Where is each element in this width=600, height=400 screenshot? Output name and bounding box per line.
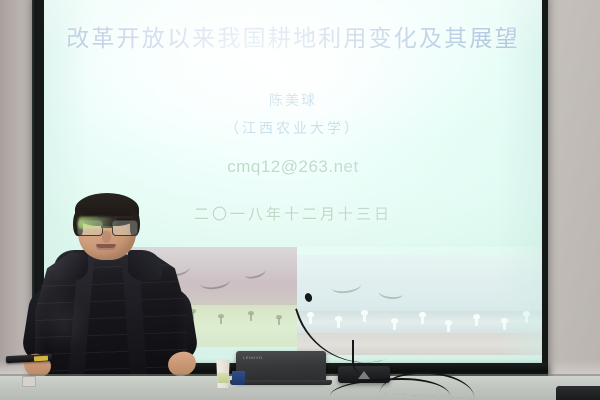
chair-back-right [556,386,600,400]
jacket-hood-right [128,250,162,280]
standing-bird-icon [250,314,252,321]
laptop-base [230,380,332,385]
slide-email: cmq12@263.net [44,157,542,177]
standing-bird-icon [220,317,222,324]
blue-adapter-box[interactable] [232,371,245,385]
standing-egret-icon [447,323,450,332]
slide-affiliation: （江西农业大学） [44,118,542,138]
desk-cable [352,340,364,374]
flying-egret-icon [379,286,404,300]
paper-cup-band [216,373,230,383]
presenter [18,196,208,400]
laptop-brand-logo: LENOVO [243,355,263,360]
presenter-mouth [96,244,116,250]
laser-pointer-label [34,356,48,362]
standing-egret-icon [503,321,506,330]
standing-egret-icon [421,315,424,324]
standing-egret-icon [309,315,312,324]
standing-bird-icon [278,318,280,325]
photo-right-shore [297,333,542,355]
jacket-hood-left [54,250,88,280]
lecture-photo-scene: 改革开放以来我国耕地利用变化及其展望 陈美球 （江西农业大学） cmq12@26… [0,0,600,400]
projector-light-on-face [78,217,118,229]
standing-egret-icon [475,317,478,326]
slide-photo-egrets-lake [297,255,542,355]
slide-title: 改革开放以来我国耕地利用变化及其展望 [44,19,542,53]
flying-egret-icon [330,277,361,295]
standing-egret-icon [363,313,366,322]
standing-egret-icon [525,314,528,323]
standing-egret-icon [337,319,340,328]
wall-socket [22,376,36,387]
presenter-nose [102,231,111,243]
standing-egret-icon [393,321,396,330]
slide-author: 陈美球 [44,90,542,110]
